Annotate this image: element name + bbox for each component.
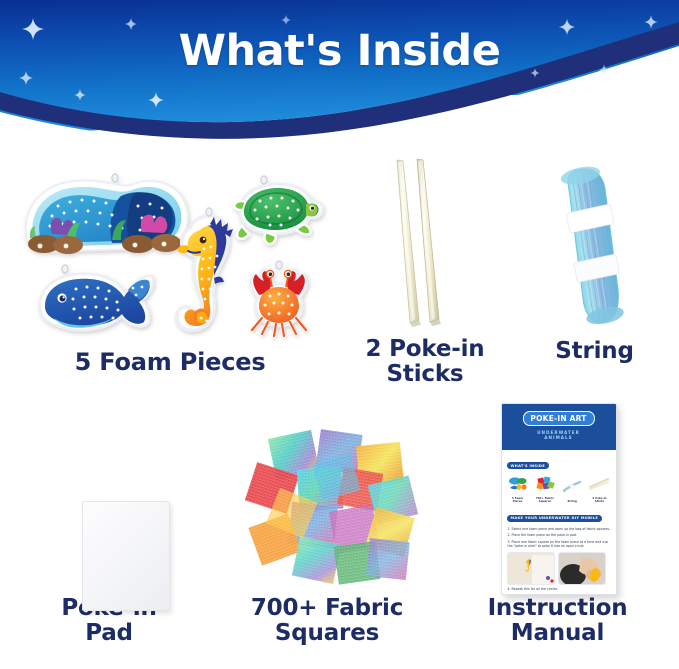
manual-photo-2 bbox=[558, 552, 606, 585]
page-header: What's Inside bbox=[0, 0, 679, 150]
mini-fabric-caption: 700+ Fabric Squares bbox=[535, 497, 555, 504]
manual-step-3: 3. Place one fabric square on the foam p… bbox=[508, 540, 611, 549]
hang-hole bbox=[62, 265, 68, 273]
manual-photo-1-image bbox=[508, 553, 555, 585]
green-turtle-foam-piece bbox=[228, 174, 328, 250]
hang-hole bbox=[261, 176, 267, 184]
string-skein-icon bbox=[540, 154, 650, 339]
manual-photos-row-1 bbox=[507, 552, 611, 585]
poke-in-art-logo: POKE-IN ART bbox=[522, 411, 594, 426]
manual-subtitle: UNDERWATER ANIMALS bbox=[537, 430, 580, 441]
orange-crab-foam-piece bbox=[232, 260, 326, 340]
item-instruction-manual: POKE-IN ART UNDERWATER ANIMALS WHAT'S IN… bbox=[436, 398, 679, 669]
blue-whale-foam-piece bbox=[32, 262, 160, 342]
fabric-squares-art bbox=[232, 416, 422, 596]
poke-in-pad-shape bbox=[82, 501, 170, 611]
hang-hole bbox=[276, 261, 282, 269]
contents-row-top: 5 Foam Pieces bbox=[0, 150, 679, 398]
mini-sticks-icon bbox=[589, 476, 609, 491]
manual-step-4: 4. Repeat this for all the circles. bbox=[508, 587, 611, 591]
foam-pieces-label: 5 Foam Pieces bbox=[75, 349, 266, 376]
stick-left bbox=[397, 160, 419, 323]
instruction-manual-label: Instruction Manual bbox=[488, 596, 628, 648]
two-poke-sticks-icon bbox=[365, 152, 485, 337]
mini-foam-icon bbox=[508, 476, 528, 491]
item-poke-in-sticks: 2 Poke-in Sticks bbox=[340, 150, 510, 398]
stick-right bbox=[417, 159, 439, 322]
coral-reef-foam-piece bbox=[16, 172, 194, 264]
contents-row-bottom: Poke-in Pad bbox=[0, 398, 679, 669]
string-label: String bbox=[555, 339, 633, 365]
manual-body: WHAT'S INSIDE bbox=[502, 450, 616, 595]
item-fabric-squares: 700+ Fabric Squares bbox=[218, 398, 436, 669]
hang-hole bbox=[112, 174, 118, 182]
instruction-manual-sheet: POKE-IN ART UNDERWATER ANIMALS WHAT'S IN… bbox=[501, 403, 617, 595]
manual-content-fabric: 700+ Fabric Squares bbox=[535, 476, 555, 504]
manual-header: POKE-IN ART UNDERWATER ANIMALS bbox=[502, 404, 616, 450]
item-string: String bbox=[510, 150, 679, 398]
whats-inside-infographic: What's Inside bbox=[0, 0, 679, 669]
manual-contents-row: 5 Foam Pieces bbox=[508, 476, 610, 504]
mini-string-caption: String bbox=[562, 500, 582, 503]
manual-make-mobile-bar: MAKE YOUR UNDERWATER DIY MOBILE bbox=[507, 515, 603, 522]
foam-pieces-art bbox=[10, 164, 330, 349]
mini-sticks-caption: 2 Poke-in Sticks bbox=[589, 497, 609, 504]
poke-in-pad-art bbox=[24, 416, 194, 596]
poke-in-sticks-art bbox=[365, 152, 485, 337]
manual-content-foam: 5 Foam Pieces bbox=[508, 476, 528, 504]
manual-photo-2-image bbox=[559, 553, 606, 585]
manual-whats-inside-bar: WHAT'S INSIDE bbox=[507, 462, 549, 469]
poke-in-sticks-label: 2 Poke-in Sticks bbox=[366, 337, 485, 389]
manual-content-sticks: 2 Poke-in Sticks bbox=[589, 476, 609, 504]
fabric-squares-label: 700+ Fabric Squares bbox=[251, 596, 403, 648]
item-poke-in-pad: Poke-in Pad bbox=[0, 398, 218, 669]
instruction-manual-art: POKE-IN ART UNDERWATER ANIMALS WHAT'S IN… bbox=[483, 401, 633, 596]
string-art bbox=[540, 154, 650, 339]
manual-step-2: 2. Place the foam piece on the poke-in p… bbox=[508, 533, 611, 537]
mini-foam-caption: 5 Foam Pieces bbox=[508, 497, 528, 504]
page-title: What's Inside bbox=[0, 26, 679, 76]
manual-photo-1 bbox=[507, 552, 555, 585]
mini-fabric-icon bbox=[535, 476, 555, 491]
mini-string-icon bbox=[562, 479, 582, 494]
item-foam-pieces: 5 Foam Pieces bbox=[0, 150, 340, 398]
manual-content-string: String bbox=[562, 479, 582, 503]
fabric-squares-pile-icon bbox=[232, 416, 422, 596]
manual-step-1: 1. Select one foam piece and open up the… bbox=[508, 527, 611, 531]
